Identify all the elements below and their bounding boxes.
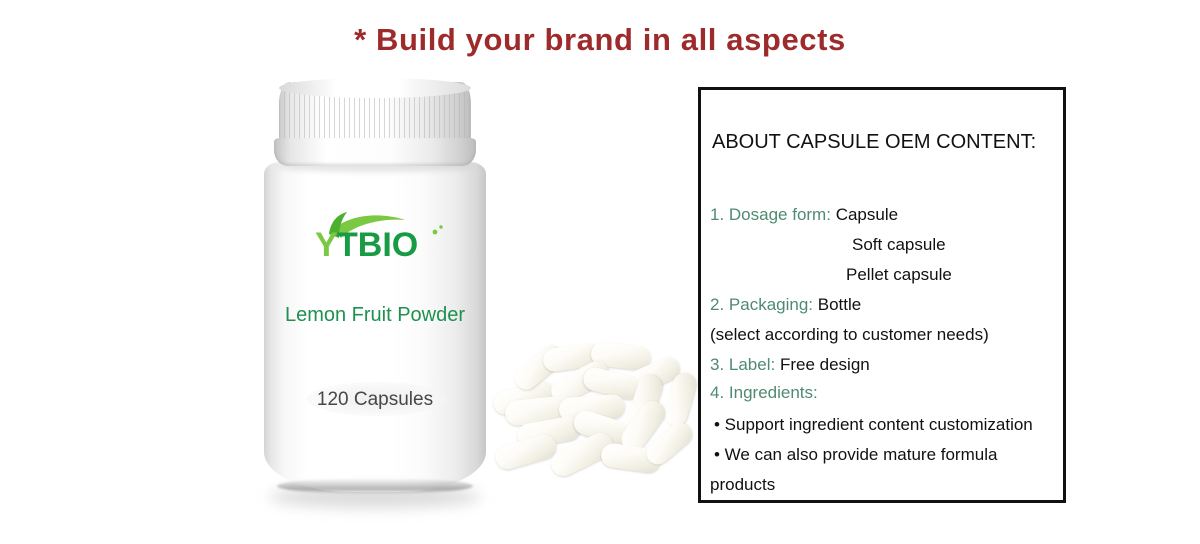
ytbio-logo: Y TBIO xyxy=(289,208,461,268)
panel-key-ingredients: 4. Ingredients: xyxy=(710,383,818,402)
capsule-pile xyxy=(487,342,697,482)
panel-line-ingredients: 4. Ingredients: xyxy=(710,383,818,403)
capsule-count-label: 120 Capsules xyxy=(264,389,486,411)
product-marketing-image: * Build your brand in all aspects Y TBIO… xyxy=(0,0,1200,544)
panel-key-packaging: 2. Packaging: xyxy=(710,295,813,314)
panel-value-dosage-form: Capsule xyxy=(836,205,898,224)
bottle-base-edge xyxy=(277,478,473,494)
panel-key-label: 3. Label: xyxy=(710,355,775,374)
panel-key-dosage-form: 1. Dosage form: xyxy=(710,205,831,224)
svg-text:TBIO: TBIO xyxy=(337,226,418,264)
panel-note-packaging: (select according to customer needs) xyxy=(710,325,989,345)
panel-value-label: Free design xyxy=(780,355,870,374)
svg-text:Y: Y xyxy=(315,226,338,264)
panel-value-pellet-capsule: Pellet capsule xyxy=(846,265,952,285)
bottle-cap-top xyxy=(279,78,471,98)
panel-heading: ABOUT CAPSULE OEM CONTENT: xyxy=(712,131,1036,154)
panel-value-soft-capsule: Soft capsule xyxy=(852,235,946,255)
panel-line-dosage-form: 1. Dosage form: Capsule xyxy=(710,205,898,225)
panel-line-label: 3. Label: Free design xyxy=(710,355,870,375)
panel-bullet-customization: • Support ingredient content customizati… xyxy=(714,415,1033,435)
page-headline: * Build your brand in all aspects xyxy=(0,22,1200,58)
panel-bullet-continuation: products xyxy=(710,475,775,495)
panel-bullet-mature-formula: • We can also provide mature formula xyxy=(714,445,997,465)
product-name-label: Lemon Fruit Powder xyxy=(264,304,486,327)
panel-value-packaging: Bottle xyxy=(818,295,861,314)
panel-line-packaging: 2. Packaging: Bottle xyxy=(710,295,861,315)
supplement-bottle: Y TBIO Lemon Fruit Powder 120 Capsules xyxy=(255,82,495,502)
bottle-cap-ring xyxy=(274,138,476,166)
